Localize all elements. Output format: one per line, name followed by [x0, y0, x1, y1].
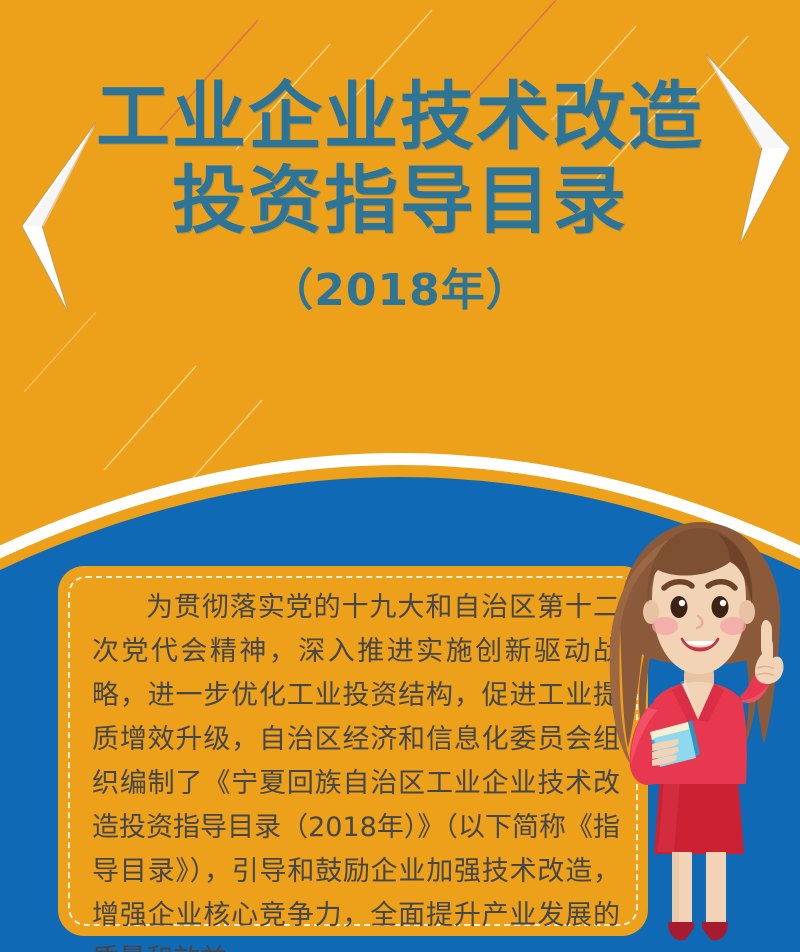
- poster-root: 工业企业技术改造 投资指导目录 （2018年） 为贯彻落实党的十九大和自治区第十…: [0, 0, 800, 952]
- female-presenter-illustration: [592, 508, 800, 952]
- poster-title-block: 工业企业技术改造 投资指导目录 （2018年）: [0, 78, 800, 318]
- title-line-2: 投资指导目录: [0, 162, 800, 242]
- intro-card: 为贯彻落实党的十九大和自治区第十二次党代会精神，深入推进实施创新驱动战略，进一步…: [58, 566, 648, 936]
- title-line-1: 工业企业技术改造: [0, 78, 800, 158]
- title-year: （2018年）: [0, 254, 800, 318]
- intro-body-text: 为贯彻落实党的十九大和自治区第十二次党代会精神，深入推进实施创新驱动战略，进一步…: [92, 586, 620, 952]
